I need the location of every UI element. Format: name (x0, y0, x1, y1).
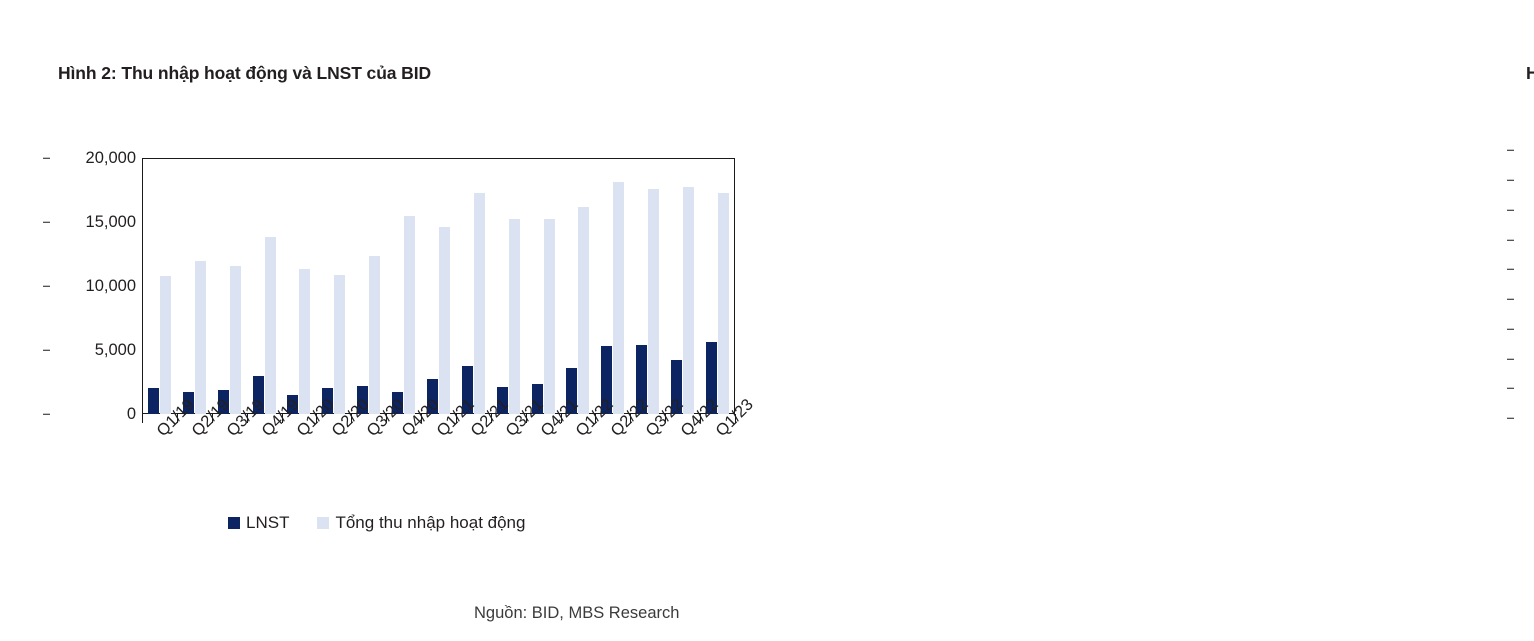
bar-pair[interactable] (561, 158, 596, 414)
y-tick-label: 1,000 (1514, 350, 1534, 367)
bar-pair[interactable] (526, 158, 561, 414)
y-tick-label: 10,000 (50, 278, 136, 295)
bar-total-operating-income[interactable] (230, 266, 241, 414)
figure-2-plot: 05,00010,00015,00020,000 Q1/19Q2/19Q3/19… (142, 158, 735, 414)
y-tick-mark (1507, 150, 1514, 151)
bar-total-operating-income[interactable] (544, 219, 555, 414)
bar-pair[interactable] (247, 158, 282, 414)
bar-pair[interactable] (491, 158, 526, 414)
bar-total-operating-income[interactable] (718, 193, 729, 414)
y-tick-label: 4,000 (1514, 261, 1534, 278)
y-tick-label: 5,000 (50, 342, 136, 359)
y-tick-label: 0 (50, 406, 136, 423)
bar-pair[interactable] (386, 158, 421, 414)
x-axis-labels-figure-2: Q1/19Q2/19Q3/19Q4/19Q1/20Q2/20Q3/20Q4/20… (142, 414, 735, 494)
y-tick-mark (43, 286, 50, 287)
figure-3-panel: Hình 3: Cơ cấu thu nhập ngoài lãi -1,000… (760, 0, 1534, 641)
bar-group-figure-2 (142, 158, 735, 414)
legend-swatch-icon (228, 517, 240, 529)
bar-lnst[interactable] (148, 388, 159, 414)
y-tick-label: 20,000 (50, 150, 136, 167)
bar-total-operating-income[interactable] (439, 227, 450, 414)
legend-label: LNST (246, 513, 289, 533)
bar-pair[interactable] (456, 158, 491, 414)
figure-2-source: Nguồn: BID, MBS Research (474, 604, 679, 623)
figure-2-title: Hình 2: Thu nhập hoạt động và LNST của B… (58, 63, 431, 84)
bar-pair[interactable] (177, 158, 212, 414)
bar-pair[interactable] (142, 158, 177, 414)
bar-total-operating-income[interactable] (648, 189, 659, 414)
bar-total-operating-income[interactable] (683, 187, 694, 414)
bar-total-operating-income[interactable] (299, 269, 310, 414)
y-tick-mark (43, 222, 50, 223)
y-tick-label: 3,000 (1514, 291, 1534, 308)
y-tick-mark (1507, 180, 1514, 181)
bar-pair[interactable] (421, 158, 456, 414)
y-tick-label: -1,000 (1514, 410, 1534, 427)
figures-page: Hình 2: Thu nhập hoạt động và LNST của B… (0, 0, 1534, 641)
bar-total-operating-income[interactable] (195, 261, 206, 414)
bar-pair[interactable] (212, 158, 247, 414)
y-tick-mark (43, 414, 50, 415)
legend-item[interactable]: LNST (228, 513, 289, 533)
bar-total-operating-income[interactable] (404, 216, 415, 414)
figure-3-title: Hình 3: Cơ cấu thu nhập ngoài lãi (1526, 63, 1534, 84)
y-tick-label: 0 (1514, 380, 1534, 397)
y-tick-label: 15,000 (50, 214, 136, 231)
y-tick-mark (1507, 299, 1514, 300)
bar-total-operating-income[interactable] (334, 275, 345, 414)
y-tick-mark (43, 350, 50, 351)
y-tick-mark (1507, 329, 1514, 330)
bar-pair[interactable] (595, 158, 630, 414)
y-tick-mark (1507, 358, 1514, 359)
bar-pair[interactable] (351, 158, 386, 414)
bar-pair[interactable] (630, 158, 665, 414)
bar-total-operating-income[interactable] (578, 207, 589, 414)
y-tick-label: 5,000 (1514, 231, 1534, 248)
y-tick-label: 6,000 (1514, 201, 1534, 218)
y-tick-label: 7,000 (1514, 172, 1534, 189)
bar-pair[interactable] (282, 158, 317, 414)
bar-total-operating-income[interactable] (613, 182, 624, 414)
bar-pair[interactable] (665, 158, 700, 414)
bar-pair[interactable] (316, 158, 351, 414)
legend-swatch-icon (317, 517, 329, 529)
bar-total-operating-income[interactable] (369, 256, 380, 414)
bar-pair[interactable] (700, 158, 735, 414)
legend-label: Tổng thu nhập hoạt động (335, 513, 525, 533)
y-tick-mark (1507, 269, 1514, 270)
y-tick-label: 2,000 (1514, 320, 1534, 337)
y-tick-mark (1507, 239, 1514, 240)
figure-2-legend: LNSTTổng thu nhập hoạt động (228, 513, 525, 533)
bar-total-operating-income[interactable] (509, 219, 520, 414)
bar-total-operating-income[interactable] (265, 237, 276, 414)
y-tick-mark (1507, 210, 1514, 211)
y-tick-mark (1507, 418, 1514, 419)
bar-total-operating-income[interactable] (474, 193, 485, 414)
bar-total-operating-income[interactable] (160, 276, 171, 414)
legend-item[interactable]: Tổng thu nhập hoạt động (317, 513, 525, 533)
y-tick-label: 8,000 (1514, 142, 1534, 159)
y-tick-mark (43, 158, 50, 159)
figure-2-panel: Hình 2: Thu nhập hoạt động và LNST của B… (0, 0, 760, 641)
y-tick-mark (1507, 388, 1514, 389)
